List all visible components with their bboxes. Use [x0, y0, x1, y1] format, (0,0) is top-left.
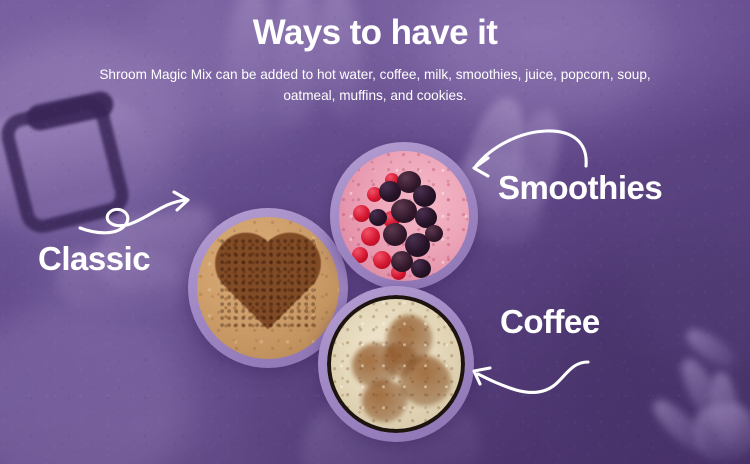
blackberry: [391, 199, 417, 223]
cup-cinnamon-coffee: [318, 286, 474, 442]
red-currant: [353, 205, 370, 222]
cup-smoothie-contents: [339, 151, 469, 281]
ways-to-have-it-banner: Ways to have it Shroom Magic Mix can be …: [0, 0, 750, 464]
label-classic: Classic: [38, 240, 150, 278]
coffee-foam-texture: [331, 299, 461, 429]
blackberry: [413, 185, 436, 207]
cup-coffee-contents: [327, 295, 465, 433]
blackberry: [411, 259, 431, 278]
page-title: Ways to have it: [0, 14, 750, 53]
wavy-arrow-left-icon: [462, 352, 592, 414]
red-currant: [361, 227, 380, 246]
coffee-foam-surface: [331, 299, 461, 429]
red-currant: [352, 247, 368, 263]
blackberry: [369, 209, 387, 226]
red-currant: [373, 251, 391, 269]
cup-classic-contents: [197, 217, 339, 359]
cup-berry-smoothie: [330, 142, 478, 290]
blackberry: [383, 223, 407, 246]
label-coffee: Coffee: [500, 303, 600, 341]
blackberry: [425, 225, 443, 242]
blackberry: [391, 251, 413, 272]
page-subtitle: Shroom Magic Mix can be added to hot wat…: [92, 64, 658, 106]
label-smoothies: Smoothies: [498, 169, 662, 207]
